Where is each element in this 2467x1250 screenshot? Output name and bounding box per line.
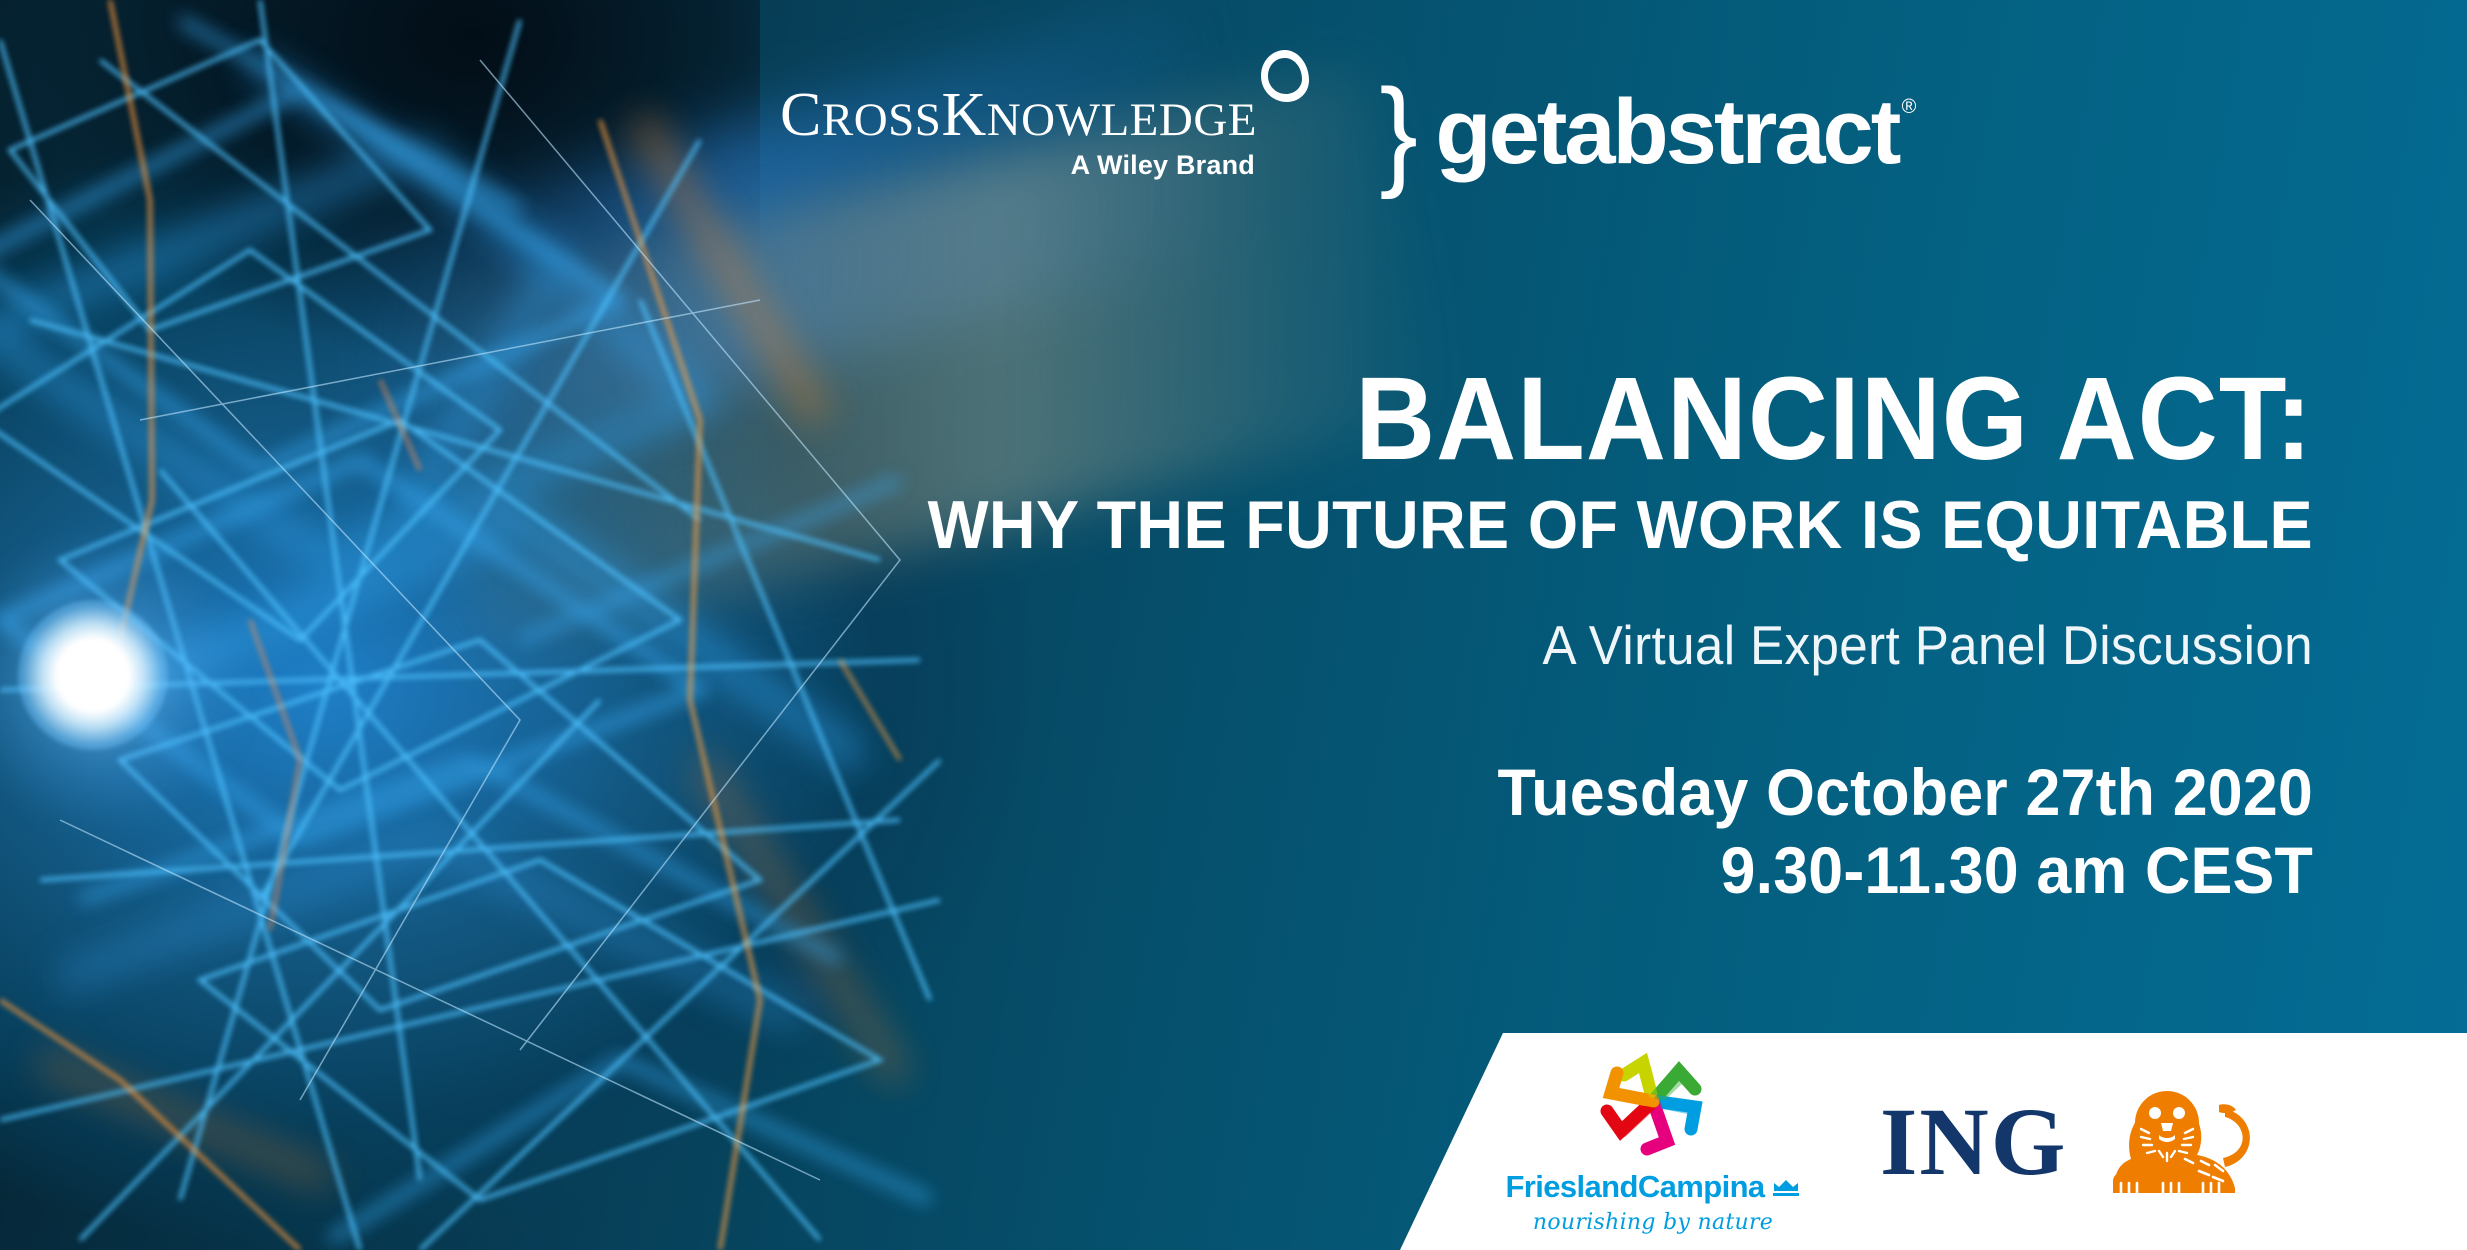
frieslandcampina-logo: FrieslandCampina nourishing by nature (1518, 1049, 1788, 1235)
getabstract-trademark: ® (1902, 97, 1917, 117)
event-date: Tuesday October 27th 2020 (926, 754, 2313, 832)
event-subtitle: WHY THE FUTURE OF WORK IS EQUITABLE (926, 490, 2313, 561)
getabstract-wordmark: getabstract (1435, 91, 1898, 174)
webinar-promo-banner: CROSSKNOWLEDGE A Wiley Brand } getabstra… (0, 0, 2467, 1250)
sponsor-panel: FrieslandCampina nourishing by nature IN… (1400, 1033, 2467, 1250)
event-copy: BALANCING ACT: WHY THE FUTURE OF WORK IS… (853, 360, 2313, 910)
event-time: 9.30-11.30 am CEST (926, 832, 2313, 910)
partner-logos: CROSSKNOWLEDGE A Wiley Brand } getabstra… (780, 62, 2320, 202)
ing-wordmark: ING (1880, 1094, 2067, 1190)
crossknowledge-tagline: A Wiley Brand (1071, 150, 1255, 181)
event-tagline: A Virtual Expert Panel Discussion (955, 615, 2313, 676)
crossknowledge-wordmark: CROSSKNOWLEDGE (780, 84, 1257, 146)
crown-icon (1771, 1177, 1801, 1197)
getabstract-logo: } getabstract ® (1382, 89, 1898, 175)
crossknowledge-mark-icon (1259, 48, 1311, 104)
getabstract-brace: } (1379, 80, 1417, 185)
event-datetime: Tuesday October 27th 2020 9.30-11.30 am … (853, 754, 2313, 910)
crossknowledge-logo: CROSSKNOWLEDGE A Wiley Brand (780, 84, 1257, 181)
ing-logo: ING (1880, 1083, 2257, 1201)
glow-sphere (18, 600, 168, 750)
frieslandcampina-tagline: nourishing by nature (1533, 1210, 1773, 1235)
frieslandcampina-wordmark: FrieslandCampina (1505, 1169, 1800, 1205)
ing-lion-icon (2097, 1083, 2257, 1201)
event-title: BALANCING ACT: (941, 360, 2313, 478)
frieslandcampina-star-icon (1591, 1049, 1715, 1165)
frieslandcampina-name: FrieslandCampina (1505, 1169, 1764, 1205)
